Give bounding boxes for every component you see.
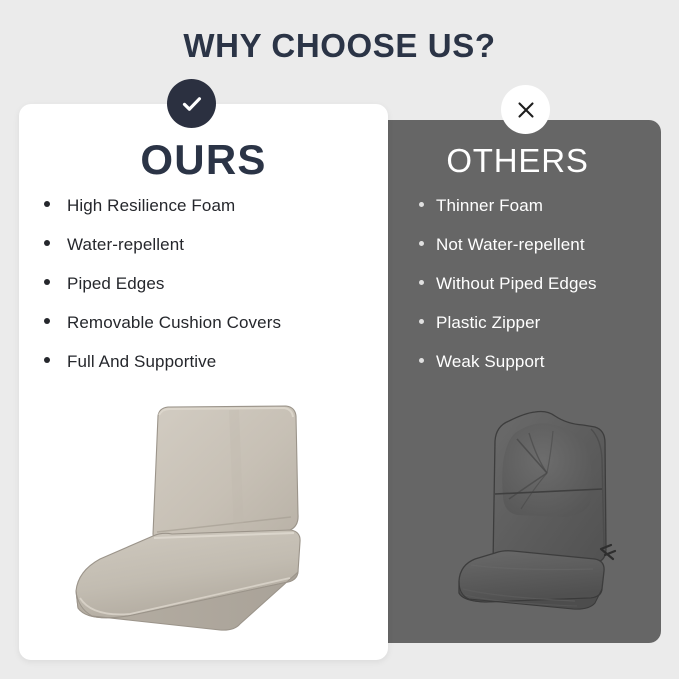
list-item-label: Weak Support	[436, 352, 545, 372]
ours-heading: OURS	[19, 136, 388, 184]
list-item: Removable Cushion Covers	[44, 313, 374, 352]
list-item-label: Plastic Zipper	[436, 313, 540, 333]
list-item: Weak Support	[419, 352, 659, 391]
list-item: Without Piped Edges	[419, 274, 659, 313]
check-icon	[179, 91, 205, 117]
others-product-image	[455, 399, 645, 624]
bullet-dot-icon	[419, 280, 424, 285]
bullet-dot-icon	[419, 241, 424, 246]
bullet-dot-icon	[44, 279, 50, 285]
ours-product-image	[58, 386, 358, 636]
list-item: Plastic Zipper	[419, 313, 659, 352]
list-item-label: Water-repellent	[67, 235, 184, 255]
list-item: Not Water-repellent	[419, 235, 659, 274]
bullet-dot-icon	[419, 319, 424, 324]
list-item: Piped Edges	[44, 274, 374, 313]
list-item: High Resilience Foam	[44, 196, 374, 235]
page-title: WHY CHOOSE US?	[0, 27, 679, 65]
bullet-dot-icon	[44, 240, 50, 246]
ours-feature-list: High Resilience Foam Water-repellent Pip…	[44, 196, 374, 391]
list-item-label: Piped Edges	[67, 274, 165, 294]
list-item: Full And Supportive	[44, 352, 374, 391]
bullet-dot-icon	[44, 357, 50, 363]
list-item: Water-repellent	[44, 235, 374, 274]
list-item-label: Thinner Foam	[436, 196, 543, 216]
list-item-label: Without Piped Edges	[436, 274, 597, 294]
others-heading: OTHERS	[374, 142, 661, 180]
others-feature-list: Thinner Foam Not Water-repellent Without…	[419, 196, 659, 391]
list-item: Thinner Foam	[419, 196, 659, 235]
bullet-dot-icon	[44, 201, 50, 207]
list-item-label: High Resilience Foam	[67, 196, 235, 216]
bullet-dot-icon	[44, 318, 50, 324]
list-item-label: Full And Supportive	[67, 352, 216, 372]
infographic-canvas: WHY CHOOSE US? OURS OTHERS High Resilien…	[0, 0, 679, 679]
bullet-dot-icon	[419, 358, 424, 363]
close-icon	[514, 98, 538, 122]
cross-badge	[501, 85, 550, 134]
list-item-label: Not Water-repellent	[436, 235, 585, 255]
check-badge	[167, 79, 216, 128]
list-item-label: Removable Cushion Covers	[67, 313, 281, 333]
bullet-dot-icon	[419, 202, 424, 207]
